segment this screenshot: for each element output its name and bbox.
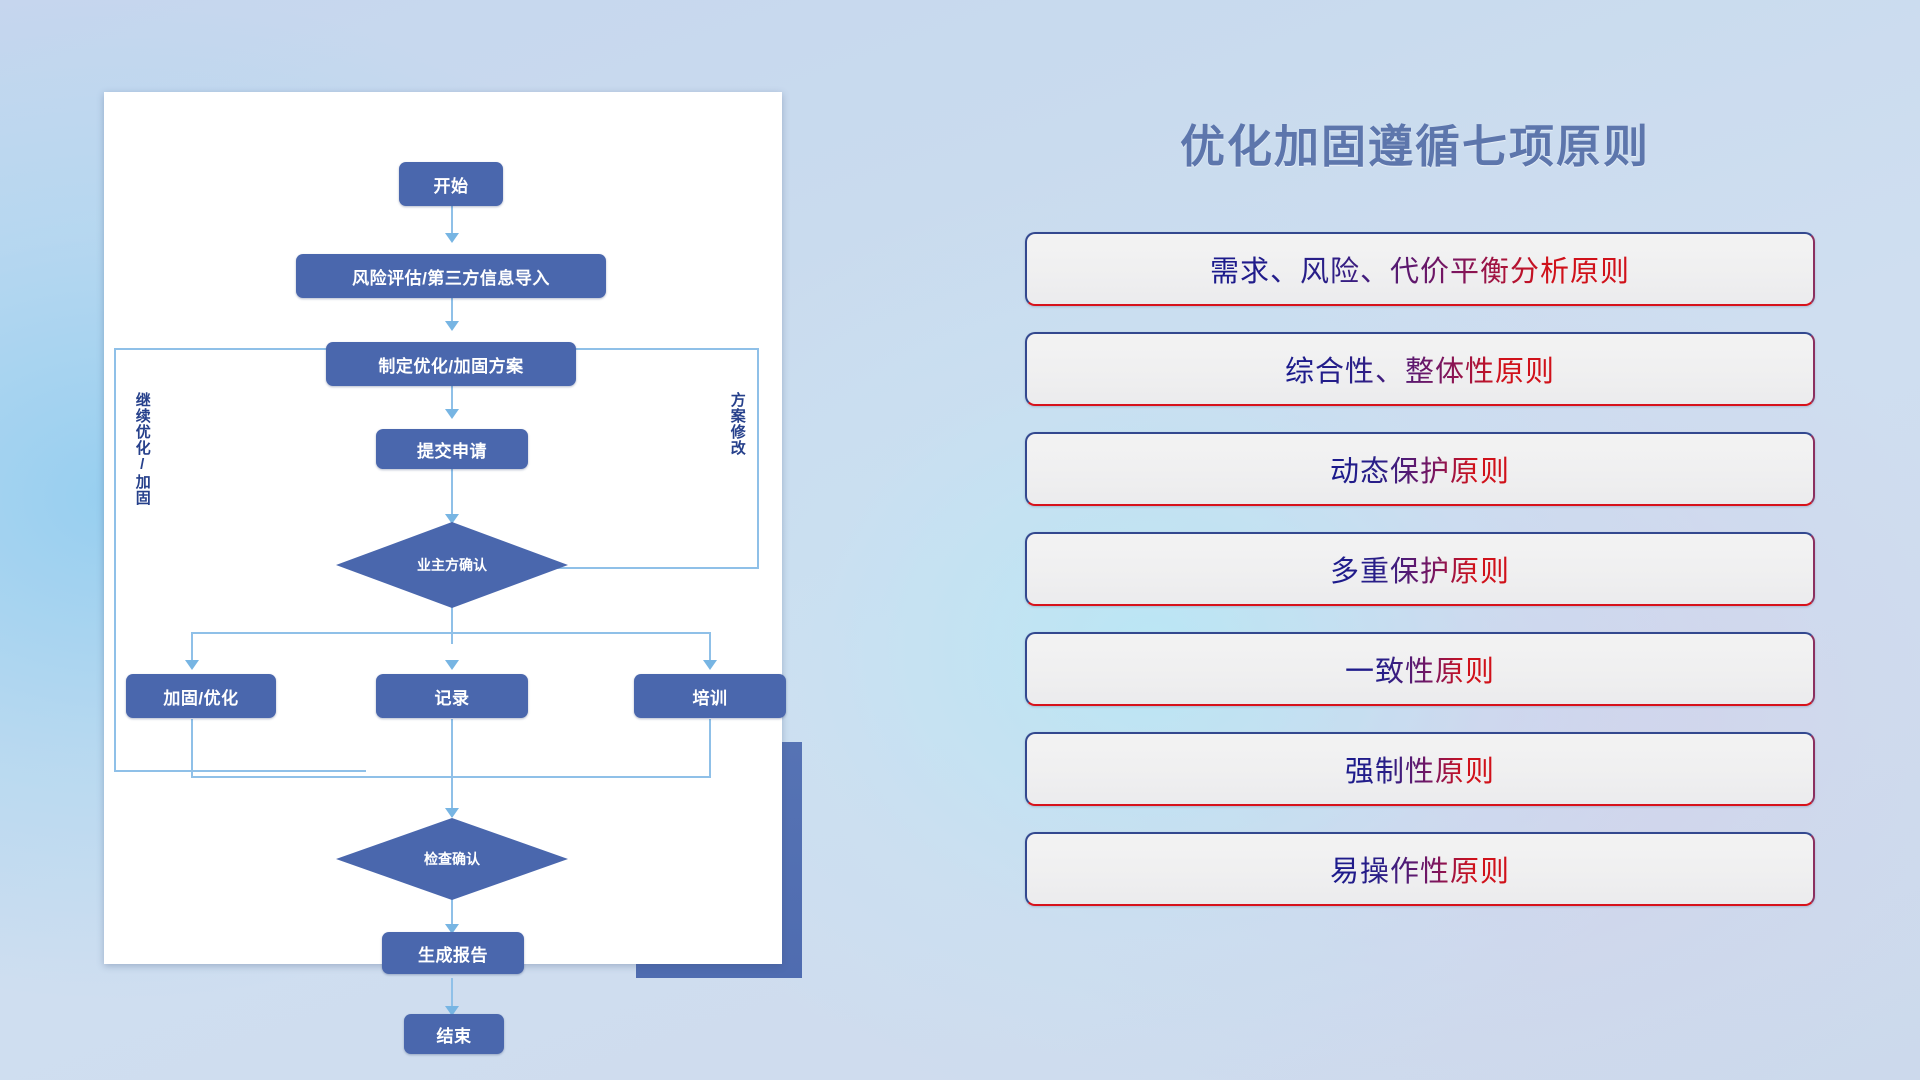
flow-node-risk-assessment[interactable]: 风险评估/第三方信息导入	[296, 254, 606, 298]
arrow-risk-plan	[445, 321, 459, 331]
edge-label-plan-revision: 方案修改	[729, 392, 745, 456]
flow-node-reinforce[interactable]: 加固/优化	[126, 674, 276, 718]
principle-label: 动态保护原则	[1330, 448, 1510, 490]
flow-node-training[interactable]: 培训	[634, 674, 786, 718]
principle-item[interactable]: 需求、风险、代价平衡分析原则	[1025, 232, 1815, 306]
principle-label: 易操作性原则	[1330, 848, 1510, 890]
flow-node-submit-application[interactable]: 提交申请	[376, 429, 528, 469]
arrow-to-reinforce	[185, 660, 199, 670]
principle-label: 综合性、整体性原则	[1285, 348, 1555, 390]
principle-list: 需求、风险、代价平衡分析原则 综合性、整体性原则 动态保护原则 多重保护原则 一…	[1025, 232, 1815, 932]
flow-node-label: 业主方确认	[417, 555, 487, 575]
principle-label: 多重保护原则	[1330, 548, 1510, 590]
principle-item[interactable]: 易操作性原则	[1025, 832, 1815, 906]
flow-node-label: 提交申请	[417, 437, 487, 462]
flow-node-end[interactable]: 结束	[404, 1014, 504, 1054]
flow-node-record[interactable]: 记录	[376, 674, 528, 718]
edge-reinforce-down	[191, 719, 193, 777]
flow-node-plan[interactable]: 制定优化/加固方案	[326, 342, 576, 386]
edge-left-rail-bottom	[114, 770, 366, 772]
edge-right-rail-top	[559, 348, 759, 350]
principle-item[interactable]: 综合性、整体性原则	[1025, 332, 1815, 406]
panel-title: 优化加固遵循七项原则	[1000, 110, 1830, 175]
principle-item[interactable]: 动态保护原则	[1025, 432, 1815, 506]
flow-node-start[interactable]: 开始	[399, 162, 503, 206]
flow-node-label: 开始	[434, 172, 469, 197]
flow-node-label: 记录	[435, 684, 470, 709]
flowchart-stage: 开始 风险评估/第三方信息导入 制定优化/加固方案 提交申请 业主方确认 加固/…	[0, 0, 860, 1080]
flow-node-label: 加固/优化	[163, 684, 238, 709]
flow-node-label: 结束	[437, 1022, 472, 1047]
arrow-to-record	[445, 660, 459, 670]
principle-label: 需求、风险、代价平衡分析原则	[1210, 248, 1630, 290]
principle-label: 强制性原则	[1345, 748, 1495, 790]
flow-node-generate-report[interactable]: 生成报告	[382, 932, 524, 974]
arrow-to-check	[445, 808, 459, 818]
flow-decision-check-confirm[interactable]: 检查确认	[336, 818, 568, 900]
principles-panel: 优化加固遵循七项原则 需求、风险、代价平衡分析原则 综合性、整体性原则 动态保护…	[1000, 0, 1920, 1080]
arrow-plan-submit	[445, 409, 459, 419]
edge-owner-right	[552, 567, 759, 569]
flow-node-label: 制定优化/加固方案	[378, 352, 523, 377]
principle-label: 一致性原则	[1345, 648, 1495, 690]
flow-node-label: 生成报告	[418, 941, 488, 966]
principle-item[interactable]: 强制性原则	[1025, 732, 1815, 806]
arrow-to-train	[703, 660, 717, 670]
edge-right-rail-vertical	[757, 348, 759, 569]
flow-node-label: 培训	[693, 684, 728, 709]
edge-train-down	[709, 719, 711, 777]
edge-label-continue-optimize: 继续优化/加固	[134, 392, 150, 506]
flow-node-label: 检查确认	[424, 849, 480, 869]
flowchart-card: 开始 风险评估/第三方信息导入 制定优化/加固方案 提交申请 业主方确认 加固/…	[104, 92, 782, 964]
principle-item[interactable]: 一致性原则	[1025, 632, 1815, 706]
flow-decision-owner-confirm[interactable]: 业主方确认	[336, 522, 568, 608]
edge-fanout-bus	[191, 632, 711, 634]
principle-item[interactable]: 多重保护原则	[1025, 532, 1815, 606]
edge-record-down	[451, 719, 453, 817]
arrow-start-risk	[445, 233, 459, 243]
edge-left-rail-top	[114, 348, 359, 350]
edge-left-rail-vertical	[114, 348, 116, 772]
flow-node-label: 风险评估/第三方信息导入	[352, 264, 550, 289]
